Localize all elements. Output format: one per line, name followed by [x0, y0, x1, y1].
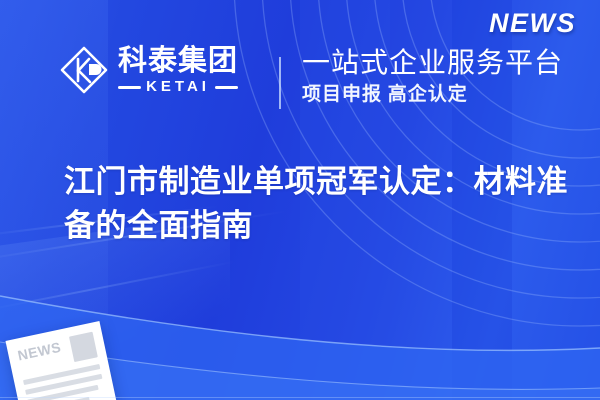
- image-placeholder-icon: [69, 332, 98, 362]
- dash-right-icon: [215, 86, 238, 89]
- kp-diamond-monogram-icon: [58, 44, 110, 96]
- brand-name-cn: 科泰集团: [118, 45, 238, 77]
- news-tag-label: NEWS: [489, 8, 576, 39]
- tagline-block: 一站式企业服务平台 项目申报 高企认定: [302, 46, 563, 108]
- tagline-main: 一站式企业服务平台: [302, 46, 563, 80]
- brand-name-en: KETAI: [146, 79, 210, 95]
- newspaper-card-title: NEWS: [16, 338, 66, 364]
- page-title: 江门市制造业单项冠军认定：材料准备的全面指南: [64, 160, 574, 248]
- news-banner: NEWS 科泰集团 KETAI: [0, 0, 600, 400]
- tagline-sub: 项目申报 高企认定: [302, 82, 563, 108]
- brand-logo[interactable]: 科泰集团 KETAI: [58, 44, 238, 96]
- bottom-hairline: [0, 397, 600, 398]
- brand-wordmark: 科泰集团 KETAI: [118, 45, 238, 95]
- banner-header: NEWS 科泰集团 KETAI: [0, 0, 600, 140]
- dash-left-icon: [118, 86, 141, 89]
- vertical-divider: [279, 57, 281, 109]
- brand-name-en-row: KETAI: [118, 79, 238, 95]
